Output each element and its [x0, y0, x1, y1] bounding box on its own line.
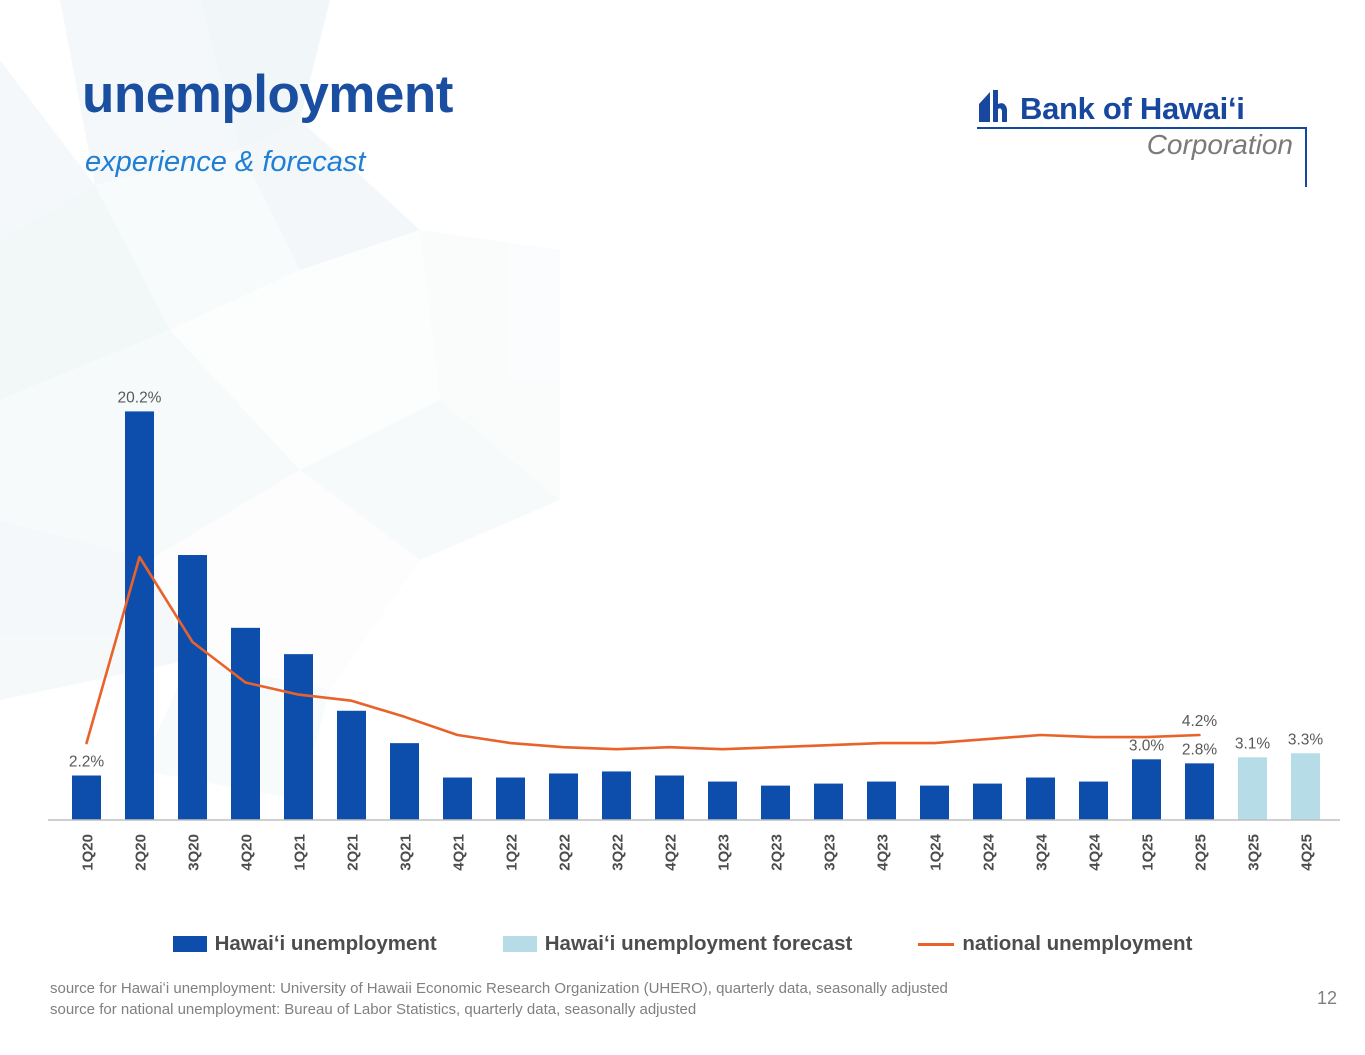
chart-bar	[1291, 753, 1320, 820]
legend-swatch-bar-icon	[173, 936, 207, 952]
logo-wordmark: Bank of Hawaiʻi	[1020, 93, 1245, 124]
chart-bar	[602, 771, 631, 820]
chart-bar	[867, 782, 896, 820]
page-number: 12	[1317, 988, 1337, 1009]
source-note-hawaii: source for Hawaiʻi unemployment: Univers…	[50, 978, 948, 999]
legend-swatch-line-icon	[918, 943, 954, 946]
legend-item-national-unemployment[interactable]: national unemployment	[918, 932, 1192, 956]
chart-bar	[814, 784, 843, 820]
x-axis-tick-label: 3Q22	[610, 834, 627, 871]
chart-bar	[1079, 782, 1108, 820]
source-notes: source for Hawaiʻi unemployment: Univers…	[50, 978, 948, 1021]
x-axis-tick-label: 4Q24	[1087, 833, 1104, 870]
logo-corporation-text: Corporation	[1147, 131, 1293, 159]
chart-bar	[920, 786, 949, 820]
x-axis-tick-label: 2Q24	[981, 833, 998, 870]
chart-bar	[1238, 757, 1267, 820]
chart-bar	[125, 411, 154, 820]
bank-of-hawaii-logo: Bank of Hawaiʻi Corporation	[977, 78, 1307, 178]
chart-bar	[390, 743, 419, 820]
data-label: 3.0%	[1129, 737, 1165, 754]
x-axis-tick-label: 3Q24	[1034, 833, 1051, 870]
x-axis-tick-label: 1Q21	[292, 834, 309, 871]
x-axis-tick-label: 2Q23	[769, 834, 786, 871]
chart-bar	[72, 776, 101, 821]
chart-bar	[496, 778, 525, 820]
x-axis-tick-label: 2Q20	[133, 834, 150, 871]
legend-label: Hawaiʻi unemployment forecast	[545, 932, 853, 956]
chart-bar	[708, 782, 737, 820]
page-title: unemployment	[82, 68, 453, 121]
data-label: 3.3%	[1288, 731, 1324, 748]
legend-item-hawaii-unemployment[interactable]: Hawaiʻi unemployment	[173, 932, 437, 956]
x-axis-tick-labels: 1Q202Q203Q204Q201Q212Q213Q214Q211Q222Q22…	[80, 833, 1316, 870]
page-subtitle: experience & forecast	[85, 148, 365, 177]
x-axis-tick-label: 1Q22	[504, 834, 521, 871]
bank-of-hawaii-logo-mark	[977, 88, 1011, 124]
x-axis-tick-label: 3Q21	[398, 834, 415, 871]
chart-bar	[1185, 763, 1214, 820]
x-axis-tick-label: 2Q22	[557, 834, 574, 871]
x-axis-tick-label: 3Q20	[186, 834, 203, 871]
x-axis-tick-label: 4Q23	[875, 834, 892, 871]
data-label: 20.2%	[118, 389, 162, 406]
chart-bar	[337, 711, 366, 820]
chart-bar	[443, 778, 472, 820]
source-note-national: source for national unemployment: Bureau…	[50, 999, 948, 1020]
chart-bar	[655, 776, 684, 821]
data-label: 2.2%	[69, 754, 105, 771]
x-axis-tick-label: 1Q23	[716, 834, 733, 871]
legend-label: national unemployment	[962, 932, 1192, 956]
x-axis-tick-label: 1Q24	[928, 833, 945, 870]
chart-svg: 2.2%20.2%3.0%2.8%3.1%3.3%4.2% 1Q202Q203Q…	[0, 300, 1365, 920]
x-axis-tick-label: 1Q25	[1140, 834, 1157, 871]
logo-vertical-rule	[1305, 127, 1307, 187]
data-label: 2.8%	[1182, 741, 1218, 758]
chart-bar	[178, 555, 207, 820]
x-axis-tick-label: 4Q22	[663, 834, 680, 871]
x-axis-tick-label: 4Q21	[451, 834, 468, 871]
chart-bar	[549, 773, 578, 820]
x-axis-tick-label: 2Q25	[1193, 834, 1210, 871]
chart-bar	[761, 786, 790, 820]
chart-bar	[1026, 778, 1055, 820]
legend-label: Hawaiʻi unemployment	[215, 932, 437, 956]
data-label: 4.2%	[1182, 713, 1218, 730]
chart-legend: Hawaiʻi unemployment Hawaiʻi unemploymen…	[0, 932, 1365, 956]
chart-bar	[1132, 759, 1161, 820]
x-axis-tick-label: 1Q20	[80, 834, 97, 871]
unemployment-chart: 2.2%20.2%3.0%2.8%3.1%3.3%4.2% 1Q202Q203Q…	[0, 300, 1365, 920]
bars-group	[72, 411, 1320, 820]
x-axis-tick-label: 3Q23	[822, 834, 839, 871]
chart-bar	[973, 784, 1002, 820]
x-axis-tick-label: 3Q25	[1246, 834, 1263, 871]
slide-header: unemployment experience & forecast Bank …	[0, 0, 1365, 200]
legend-item-hawaii-unemployment-forecast[interactable]: Hawaiʻi unemployment forecast	[503, 932, 853, 956]
x-axis-tick-label: 4Q20	[239, 834, 256, 871]
x-axis-tick-label: 2Q21	[345, 834, 362, 871]
data-label: 3.1%	[1235, 735, 1271, 752]
x-axis-tick-label: 4Q25	[1299, 834, 1316, 871]
chart-bar	[284, 654, 313, 820]
chart-bar	[231, 628, 260, 820]
legend-swatch-bar-icon	[503, 936, 537, 952]
